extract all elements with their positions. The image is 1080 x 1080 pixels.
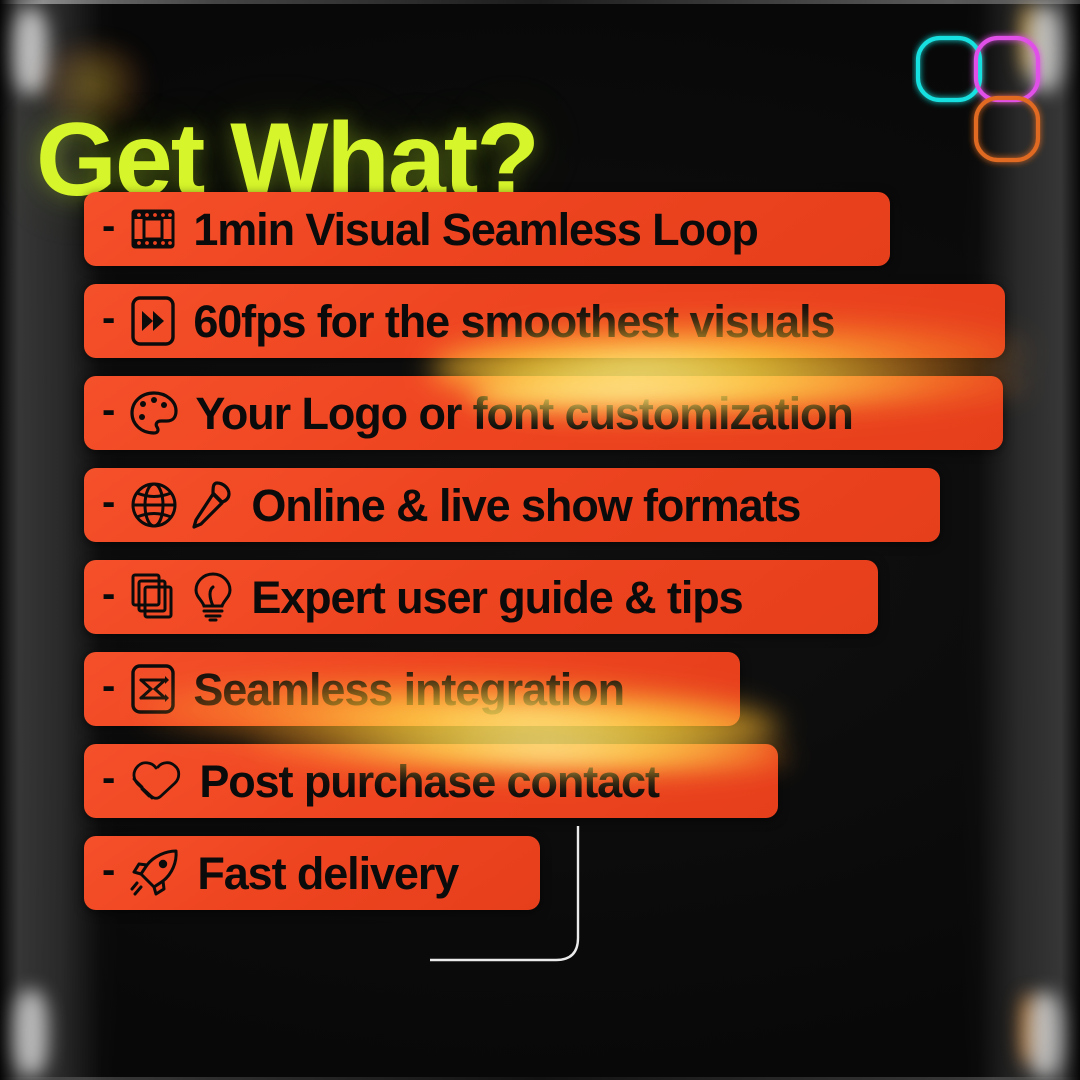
list-item-icons: [129, 571, 235, 623]
list-item-label: 1min Visual Seamless Loop: [193, 207, 757, 252]
shuffle-icon: [129, 663, 177, 715]
list-item-label: Post purchase contact: [199, 759, 659, 804]
list-bullet: -: [102, 758, 115, 798]
list-item-icons: [129, 758, 183, 804]
list-item-label: Your Logo or font customization: [195, 391, 853, 436]
list-bullet: -: [102, 574, 115, 614]
list-item-label: Expert user guide & tips: [251, 575, 742, 620]
list-item[interactable]: - Seamless integration: [84, 652, 740, 726]
logo-square-orange: [976, 98, 1038, 160]
lightbulb-icon: [191, 571, 235, 623]
logo-square-cyan: [918, 38, 980, 100]
logo-square-magenta: [976, 38, 1038, 100]
list-item-icons: [129, 295, 177, 347]
microphone-icon: [189, 479, 235, 531]
list-item-icons: [129, 389, 179, 437]
list-item-label: Online & live show formats: [251, 483, 800, 528]
globe-icon: [129, 480, 179, 530]
list-item-icons: [129, 663, 177, 715]
list-item-label: 60fps for the smoothest visuals: [193, 299, 834, 344]
list-item-icons: [129, 847, 181, 899]
film-frames-icon: [129, 207, 177, 251]
list-bullet: -: [102, 390, 115, 430]
brand-logo-icon: [912, 26, 1056, 176]
list-item-icons: [129, 207, 177, 251]
rocket-icon: [129, 847, 181, 899]
list-bullet: -: [102, 298, 115, 338]
stacked-cards-icon: [129, 571, 181, 623]
list-bullet: -: [102, 666, 115, 706]
list-item[interactable]: - Online: [84, 468, 940, 542]
list-bullet: -: [102, 206, 115, 246]
list-item[interactable]: - 1min Visual Seam: [84, 192, 890, 266]
fast-forward-icon: [129, 295, 177, 347]
feature-list: - 1min Visual Seam: [84, 192, 1044, 928]
list-item[interactable]: - Fast delivery: [84, 836, 540, 910]
list-item[interactable]: -: [84, 560, 878, 634]
list-item-label: Seamless integration: [193, 667, 624, 712]
list-item-icons: [129, 479, 235, 531]
handshake-icon: [129, 758, 183, 804]
list-item-label: Fast delivery: [197, 851, 458, 896]
palette-icon: [129, 389, 179, 437]
list-item[interactable]: - Post purchase contact: [84, 744, 778, 818]
poster-canvas: Get What? -: [0, 0, 1080, 1080]
list-item[interactable]: - Your Logo or font customization: [84, 376, 1003, 450]
list-item[interactable]: - 60fps for the smoothest visuals: [84, 284, 1005, 358]
brand-logo[interactable]: [912, 26, 1056, 176]
list-bullet: -: [102, 482, 115, 522]
list-bullet: -: [102, 850, 115, 890]
